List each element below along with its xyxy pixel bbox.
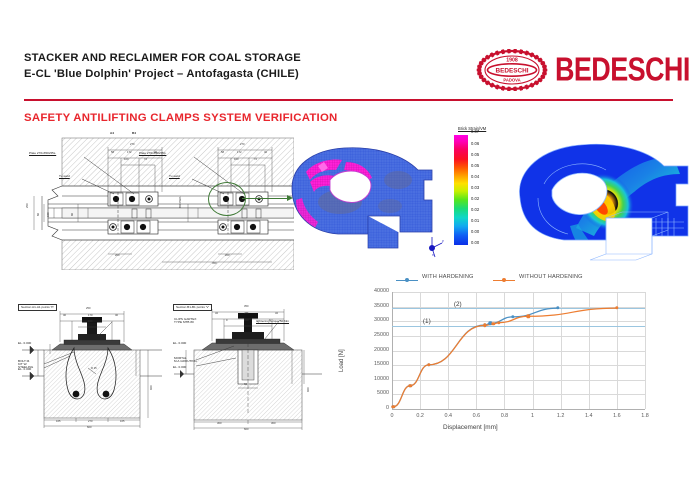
chart-x-tick-label: 1.2 (549, 414, 573, 419)
cbar-tick-7: 0.02 (471, 208, 479, 212)
br-dim-hole: 60 (244, 384, 247, 387)
dim-overall-left: 270 (130, 144, 134, 147)
section-title: SAFETY ANTILIFTING CLAMPS SYSTEM VERIFIC… (24, 112, 338, 124)
bl-dim-bottom-total: 600 (87, 427, 91, 430)
fea-mesh-model: z y x (272, 136, 452, 266)
callout-a4-label: A4 (110, 132, 114, 135)
dim-seg3-right: 40 (264, 152, 267, 155)
chart-y-tick-label: 0 (349, 406, 389, 411)
chart-y-axis-label: Load [N] (339, 349, 345, 372)
br-dim-inner1: 9 (226, 320, 228, 323)
br-dim-depth: 400 (308, 388, 311, 392)
cbar-tick-10: 0.00 (471, 241, 479, 245)
br-dim-inner3: 9 (269, 320, 271, 323)
header-line-2: E-CL 'Blue Dolphin' Project – Antofagast… (24, 66, 301, 82)
section-b1-drawing: Section B1-B1 points 'V' tightening torq… (172, 302, 324, 434)
strain-colorbar: Brick Strain/VM 0.07 0.06 0.05 0.05 0.04… (452, 126, 504, 262)
bedeschi-gear-emblem-icon: 1908 BEDESCHI PADOVA (475, 49, 549, 91)
bl-dim-t3: 40 (115, 315, 118, 318)
plate-label-right: Plate 270x350x55p. (139, 152, 166, 155)
dim-bottom-left-2: 200 (225, 255, 229, 258)
colorbar-gradient (454, 135, 468, 245)
weld-label-left: Tu weld (59, 175, 70, 178)
dim-vert-d: 80 (72, 213, 75, 216)
cbar-tick-8: 0.01 (471, 219, 479, 223)
bl-dim-bottom-3: 165 (120, 421, 124, 424)
svg-text:1908: 1908 (506, 58, 518, 64)
colorbar-ticks: 0.07 0.06 0.05 0.05 0.04 0.03 0.02 0.02 … (471, 130, 503, 254)
bedeschi-logo: 1908 BEDESCHI PADOVA BEDESCHI (475, 48, 675, 92)
bl-dim-t1: 40 (63, 315, 66, 318)
bl-radius-note: R 25 (91, 368, 97, 371)
br-dim-bottom-total: 600 (244, 429, 248, 432)
bl-dim-bottom-2: 270 (88, 421, 92, 424)
section-a1-title: Section A1-A1 points 'H' (18, 304, 57, 311)
legend-label-with-hardening: WITH HARDENING (422, 274, 474, 280)
dim-seg3-left: 40 (154, 152, 157, 155)
dim-seg2-right: 172 (237, 152, 241, 155)
cbar-tick-0: 0.07 (471, 130, 479, 134)
bedeschi-wordmark: BEDESCHI (555, 51, 690, 89)
cbar-tick-1: 0.06 (471, 142, 479, 146)
chart-x-tick-label: 0.8 (492, 414, 516, 419)
bl-level-top: EL. 0.000 (18, 342, 31, 345)
clips-material-note: CLIPS GARTEX TYPE MTB 80 (174, 318, 196, 324)
dim-seg2-left: 172 (127, 152, 131, 155)
fea-contour-svg (502, 132, 697, 268)
br-dim-bottom-1: 300 (217, 423, 221, 426)
chart-plot-area (392, 292, 645, 409)
grout-note: MORTAL M.A GROUTING (174, 357, 197, 363)
bl-dim-inner: 100 (88, 321, 92, 324)
chart-x-tick-label: 1 (521, 414, 545, 419)
chart-y-tick-label: 15000 (349, 362, 389, 367)
rail-clamp-plan-drawing: Plate 270x350x55s. Plate 270x350x55p. Tu… (22, 130, 294, 270)
svg-text:PADOVA: PADOVA (503, 78, 520, 83)
br-dim-top-total: 350 (244, 306, 248, 309)
load-displacement-chart: WITH HARDENING WITHOUT HARDENING Load [N… (333, 272, 679, 440)
pitch-note: 450 Pitch (180, 197, 183, 208)
fea-contour-model (502, 132, 697, 268)
br-dim-inner2: 100 (244, 320, 248, 323)
chart-x-tick-label: 1.8 (633, 414, 657, 419)
chart-annotation-1: (1) (423, 318, 431, 325)
weld-label-right: Tu weld (169, 175, 180, 178)
legend-label-without-hardening: WITHOUT HARDENING (519, 274, 583, 280)
dim-sub1-right: 100 (234, 159, 238, 162)
br-dim-t2: 286 (244, 313, 248, 316)
chart-x-tick-label: 1.4 (577, 414, 601, 419)
br-level-bottom: EL. 0.000 (173, 366, 186, 369)
bl-dim-bottom-1: 165 (56, 421, 60, 424)
dim-bottom-left: 200 (115, 255, 119, 258)
bl-dim-depth: 400 (151, 386, 154, 390)
dim-seg1-left: 58 (111, 152, 114, 155)
br-dim-t3: 32 (275, 313, 278, 316)
header-divider (24, 99, 673, 101)
cbar-tick-3: 0.05 (471, 164, 479, 168)
dim-sub2-right: 72 (254, 159, 257, 162)
svg-text:BEDESCHI: BEDESCHI (495, 68, 528, 75)
dim-sub1-left: 100 (124, 159, 128, 162)
bl-level-bottom: EL. 0.000 (18, 368, 31, 371)
cbar-tick-9: 0.00 (471, 230, 479, 234)
cbar-tick-2: 0.05 (471, 153, 479, 157)
chart-x-axis-line (392, 409, 645, 410)
cbar-tick-4: 0.04 (471, 175, 479, 179)
dim-vert-b: 60 (38, 213, 41, 216)
chart-x-tick-label: 0 (380, 414, 404, 419)
dim-bottom-right: 450 (212, 263, 216, 266)
chart-annotation-2: (2) (454, 301, 462, 308)
highlight-ellipse (208, 182, 246, 216)
cbar-tick-5: 0.03 (471, 186, 479, 190)
legend-marker-with-hardening (405, 278, 409, 282)
chart-x-tick-label: 1.6 (605, 414, 629, 419)
legend-marker-without-hardening (502, 278, 506, 282)
chart-y-tick-label: 40000 (349, 289, 389, 294)
chart-series-layer (392, 292, 645, 409)
chart-x-tick-label: 0.4 (436, 414, 460, 419)
slide-header: STACKER AND RECLAIMER FOR COAL STORAGE E… (0, 0, 697, 104)
chart-series-line-1 (393, 308, 557, 407)
chart-x-tick-label: 0.2 (408, 414, 432, 419)
chart-x-tick-label: 0.6 (464, 414, 488, 419)
br-level-top: EL. 0.000 (173, 342, 186, 345)
chart-x-axis-label: Displacement [mm] (443, 424, 498, 431)
dim-overall-right: 270 (240, 144, 244, 147)
br-dim-t1: 32 (215, 313, 218, 316)
chart-y-tick-label: 30000 (349, 318, 389, 323)
chart-y-tick-label: 25000 (349, 333, 389, 338)
br-dim-bottom-2: 300 (271, 423, 275, 426)
axis-triad-icon (422, 232, 450, 260)
dim-vert-a: 250 (27, 204, 30, 208)
cbar-tick-6: 0.02 (471, 197, 479, 201)
bl-dim-t2: 170 (88, 315, 92, 318)
dim-seg1-right: 58 (221, 152, 224, 155)
header-title-block: STACKER AND RECLAIMER FOR COAL STORAGE E… (24, 50, 301, 82)
dim-sub2-left: 72 (144, 159, 147, 162)
plate-label-left: Plate 270x350x55s. (29, 152, 56, 155)
chart-y-tick-label: 35000 (349, 304, 389, 309)
dim-vert-c: 100 (48, 213, 51, 217)
header-line-1: STACKER AND RECLAIMER FOR COAL STORAGE (24, 50, 301, 66)
chart-y-tick-label: 20000 (349, 348, 389, 353)
torque-note: tightening torque 50 Nm (256, 320, 289, 323)
chart-gridline-vertical (645, 292, 646, 409)
bl-dim-top-total: 250 (86, 308, 90, 311)
callout-b4-label: B4 (132, 132, 136, 135)
chart-y-tick-label: 10000 (349, 377, 389, 382)
chart-y-tick-label: 5000 (349, 391, 389, 396)
section-b1-title: Section B1-B1 points 'V' (173, 304, 212, 311)
section-a1-drawing: Section A1-A1 points 'H' 250 40 170 40 1… (16, 302, 168, 434)
